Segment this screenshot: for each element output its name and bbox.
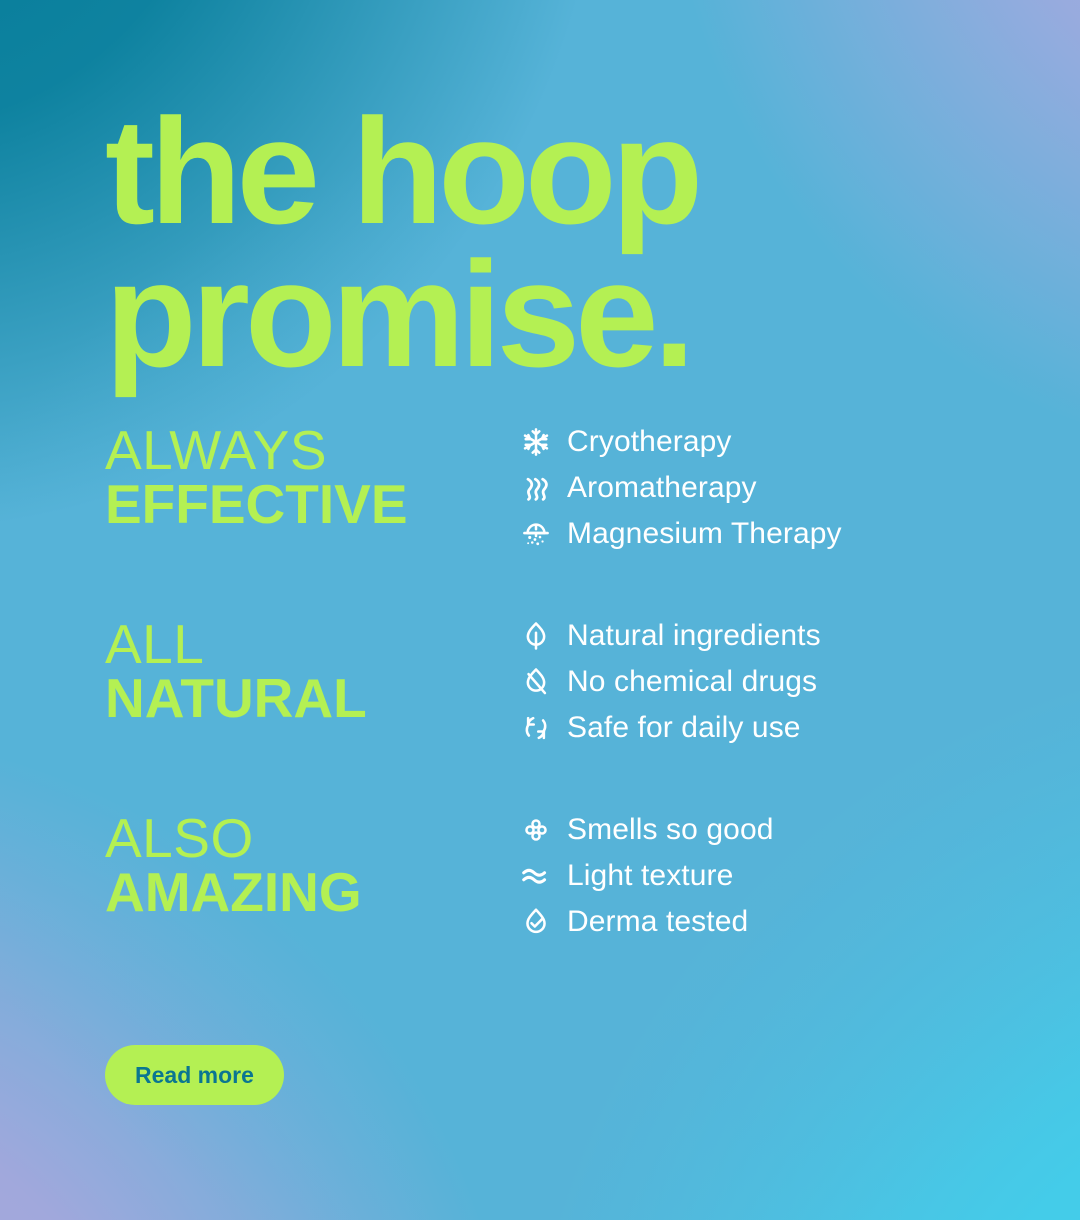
- feature-label: Safe for daily use: [567, 711, 801, 745]
- mineral-scoop-icon: [520, 518, 552, 550]
- steam-icon: [520, 472, 552, 504]
- promise-label-lead: ALWAYS: [105, 424, 408, 478]
- leaf-crossed-out-icon: [520, 666, 552, 698]
- promise-row: ALLNATURAL Natural ingredients No chemic…: [0, 618, 1080, 812]
- feature-label: Aromatherapy: [567, 471, 757, 505]
- feature-item: No chemical drugs: [520, 659, 821, 705]
- promise-label: ALSOAMAZING: [105, 812, 362, 920]
- promise-poster: the hoop promise. ALWAYSEFFECTIVE Cryoth…: [0, 0, 1080, 1220]
- feature-item: Light texture: [520, 853, 774, 899]
- promise-row: ALWAYSEFFECTIVE Cryotherapy Aromatherapy: [0, 424, 1080, 618]
- recycle-cycle-icon: [520, 712, 552, 744]
- feature-item: Derma tested: [520, 899, 774, 945]
- promise-label: ALLNATURAL: [105, 618, 367, 726]
- feature-label: No chemical drugs: [567, 665, 817, 699]
- promise-label-lead: ALL: [105, 618, 367, 672]
- feature-list: Cryotherapy Aromatherapy Magnesium Thera…: [520, 419, 842, 557]
- feature-label: Light texture: [567, 859, 733, 893]
- feature-item: Safe for daily use: [520, 705, 821, 751]
- feature-label: Natural ingredients: [567, 619, 821, 653]
- feature-list: Smells so good Light texture Derma teste…: [520, 807, 774, 945]
- promise-row: ALSOAMAZING Smells so good Light texture…: [0, 812, 1080, 1006]
- promise-rows: ALWAYSEFFECTIVE Cryotherapy Aromatherapy: [0, 424, 1080, 1006]
- waves-icon: [520, 860, 552, 892]
- promise-label-bold: AMAZING: [105, 866, 362, 920]
- feature-item: Natural ingredients: [520, 613, 821, 659]
- droplet-check-icon: [520, 906, 552, 938]
- snowflake-icon: [520, 426, 552, 458]
- feature-label: Magnesium Therapy: [567, 517, 842, 551]
- read-more-button[interactable]: Read more: [105, 1045, 284, 1105]
- feature-label: Smells so good: [567, 813, 774, 847]
- flower-icon: [520, 814, 552, 846]
- promise-label-lead: ALSO: [105, 812, 362, 866]
- feature-label: Cryotherapy: [567, 425, 732, 459]
- leaf-icon: [520, 620, 552, 652]
- feature-label: Derma tested: [567, 905, 748, 939]
- promise-label-bold: EFFECTIVE: [105, 478, 408, 532]
- feature-item: Aromatherapy: [520, 465, 842, 511]
- feature-item: Magnesium Therapy: [520, 511, 842, 557]
- feature-item: Cryotherapy: [520, 419, 842, 465]
- page-title: the hoop promise.: [105, 100, 698, 385]
- promise-label-bold: NATURAL: [105, 672, 367, 726]
- feature-item: Smells so good: [520, 807, 774, 853]
- promise-label: ALWAYSEFFECTIVE: [105, 424, 408, 532]
- feature-list: Natural ingredients No chemical drugs Sa…: [520, 613, 821, 751]
